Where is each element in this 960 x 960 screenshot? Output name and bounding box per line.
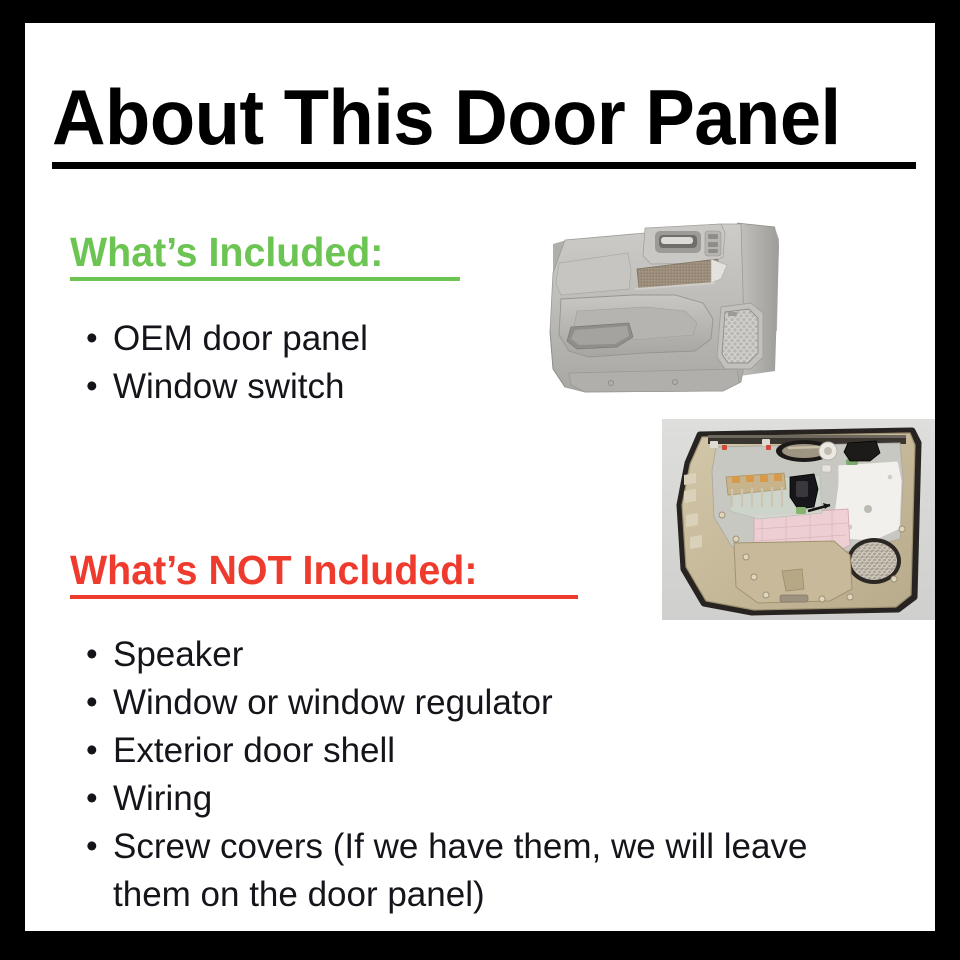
not-included-heading-label: What’s NOT Included: [70,547,558,593]
door-panel-front-illustration [525,211,795,407]
included-heading-block: What’s Included: [70,229,460,281]
page-title: About This Door Panel [52,75,875,159]
list-item: Exterior door shell [80,727,880,775]
included-heading-underline [70,277,460,281]
page-title-block: About This Door Panel [52,75,918,169]
content-card: About This Door Panel What’s Included: O… [25,23,935,931]
not-included-list: Speaker Window or window regulator Exter… [80,631,880,919]
included-heading-label: What’s Included: [70,229,444,275]
list-item: Speaker [80,631,880,679]
list-item: Window switch [80,363,510,411]
image-border: About This Door Panel What’s Included: O… [0,0,960,960]
not-included-heading-underline [70,595,578,599]
list-item: Window or window regulator [80,679,880,727]
door-panel-front-photo [525,211,795,407]
page-title-underline [52,162,916,169]
list-item: Wiring [80,775,880,823]
not-included-heading-block: What’s NOT Included: [70,547,578,599]
list-item: OEM door panel [80,315,510,363]
door-panel-back-photo [662,419,935,620]
included-list: OEM door panel Window switch [80,315,510,411]
list-item: Screw covers (If we have them, we will l… [80,823,880,919]
door-panel-back-illustration [662,419,935,620]
